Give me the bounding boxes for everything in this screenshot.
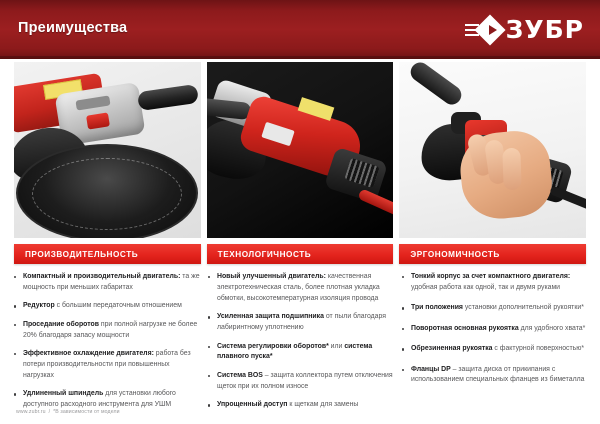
angle-grinder-in-hand-photo	[399, 62, 586, 238]
feature-item: Система BOS – защита коллектора путем от…	[208, 371, 396, 393]
footer-website: www.zubr.ru	[16, 409, 46, 415]
feature-item-bold: Компактный и производительный двигатель:	[23, 273, 180, 280]
feature-item-bold: Тонкий корпус за счет компактного двигат…	[411, 273, 570, 280]
feature-item-bold: Редуктор	[23, 302, 55, 309]
section-banner-technology: ТЕХНОЛОГИЧНОСТЬ	[207, 244, 394, 264]
feature-item-text: к щеткам для замены	[287, 401, 358, 408]
advantages-page: Преимущества ЗУБР	[0, 0, 600, 424]
feature-item: Тонкий корпус за счет компактного двигат…	[402, 272, 590, 294]
feature-item-text: удобная работа как одной, так и двумя ру…	[411, 284, 560, 291]
feature-item: Поворотная основная рукоятка для удобног…	[402, 324, 590, 335]
feature-item-bold: Три положения	[411, 304, 463, 311]
feature-item-bold: Упрощенный доступ	[217, 401, 287, 408]
feature-item-bold: Система регулировки оборотов*	[217, 343, 329, 350]
brand-name: ЗУБР	[506, 17, 584, 42]
finger-shape	[503, 148, 522, 191]
feature-item-text: для удобного хвата*	[519, 325, 586, 332]
feature-item-bold: Новый улучшенный двигатель:	[217, 273, 326, 280]
feature-item: Усиленная защита подшипника от пыли благ…	[208, 312, 396, 334]
feature-item-text: установки дополнительной рукоятки*	[463, 304, 584, 311]
power-cord-shape	[357, 188, 393, 222]
brand-logo: ЗУБР	[465, 14, 584, 45]
angle-grinder-large-disc-photo	[14, 62, 201, 238]
footer-note: *В зависимости от модели	[53, 409, 120, 415]
feature-item: Новый улучшенный двигатель: качественная…	[208, 272, 396, 305]
side-handle-shape	[407, 62, 465, 108]
feature-item: Фланцы DP – защита диска от прикипания с…	[402, 365, 590, 387]
section-banner-row: ПРОИЗВОДИТЕЛЬНОСТЬ ТЕХНОЛОГИЧНОСТЬ ЭРГОН…	[14, 244, 586, 264]
feature-item-bold: Система BOS	[217, 372, 263, 379]
feature-column-technology: Новый улучшенный двигатель: качественная…	[208, 272, 396, 419]
feature-item: Эффективное охлаждение двигателя: работа…	[14, 349, 202, 382]
page-title: Преимущества	[18, 20, 127, 36]
product-photo-row	[14, 62, 586, 238]
feature-item-bold: Проседание оборотов	[23, 321, 99, 328]
section-banner-label: ТЕХНОЛОГИЧНОСТЬ	[207, 250, 312, 259]
page-header: Преимущества ЗУБР	[0, 0, 600, 59]
feature-columns: Компактный и производительный двигатель:…	[14, 272, 592, 419]
zubr-diamond-arrow-logo-icon	[465, 15, 501, 44]
feature-item-bold: Фланцы DP	[411, 366, 451, 373]
feature-item: Компактный и производительный двигатель:…	[14, 272, 202, 294]
cutting-disc-shape	[16, 144, 198, 238]
feature-item: Редуктор с большим передаточным отношени…	[14, 301, 202, 312]
feature-column-performance: Компактный и производительный двигатель:…	[14, 272, 202, 419]
section-banner-label: ПРОИЗВОДИТЕЛЬНОСТЬ	[14, 250, 138, 259]
feature-item-bold: Удлиненный шпиндель	[23, 390, 103, 397]
feature-item-bold: Эффективное охлаждение двигателя:	[23, 350, 154, 357]
feature-item: Проседание оборотов при полной нагрузке …	[14, 320, 202, 342]
feature-item-bold: Поворотная основная рукоятка	[411, 325, 519, 332]
feature-item: Обрезиненная рукоятка с фактурной поверх…	[402, 344, 590, 355]
side-handle-shape	[137, 84, 199, 111]
angle-grinder-body-closeup-photo	[207, 62, 394, 238]
feature-item-text: с большим передаточным отношением	[55, 302, 182, 309]
feature-item-text: или	[329, 343, 345, 350]
footer-separator: /	[46, 409, 54, 415]
feature-column-ergonomics: Тонкий корпус за счет компактного двигат…	[402, 272, 590, 419]
feature-item-bold: Обрезиненная рукоятка	[411, 345, 493, 352]
feature-item: Система регулировки оборотов* или систем…	[208, 342, 396, 364]
section-banner-ergonomics: ЭРГОНОМИЧНОСТЬ	[399, 244, 586, 264]
feature-item-text: с фактурной поверхностью*	[493, 345, 585, 352]
section-banner-performance: ПРОИЗВОДИТЕЛЬНОСТЬ	[14, 244, 201, 264]
feature-item: Удлиненный шпиндель для установки любого…	[14, 389, 202, 411]
section-banner-label: ЭРГОНОМИЧНОСТЬ	[399, 250, 500, 259]
logo-arrow-icon	[489, 25, 497, 35]
feature-item: Упрощенный доступ к щеткам для замены	[208, 400, 396, 411]
feature-item-bold: Усиленная защита подшипника	[217, 313, 324, 320]
feature-item: Три положения установки дополнительной р…	[402, 303, 590, 314]
page-footer: www.zubr.ru/*В зависимости от модели	[16, 409, 120, 415]
